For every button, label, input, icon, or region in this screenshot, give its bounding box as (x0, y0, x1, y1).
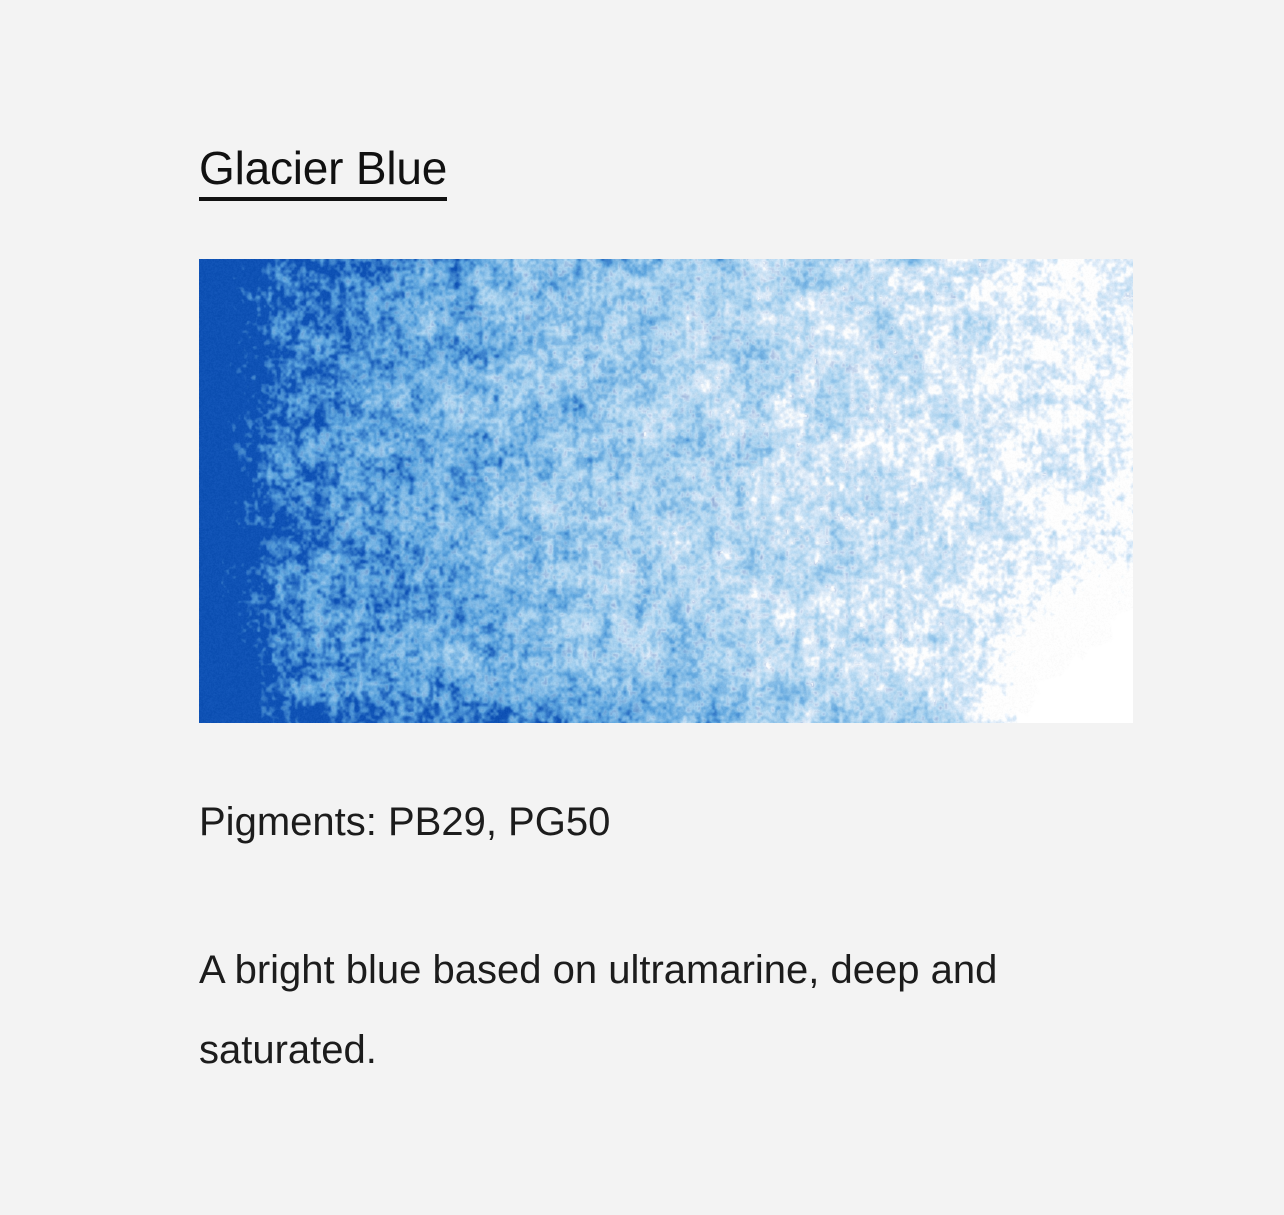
description-text: A bright blue based on ultramarine, deep… (199, 930, 1099, 1090)
pigments-line: Pigments: PB29, PG50 (199, 797, 610, 847)
watercolor-swatch (199, 259, 1133, 723)
watercolor-swatch-image (199, 259, 1133, 723)
color-swatch-page: Glacier Blue Pigments: PB29, PG50 A brig… (0, 0, 1284, 1215)
page-title: Glacier Blue (199, 140, 447, 201)
